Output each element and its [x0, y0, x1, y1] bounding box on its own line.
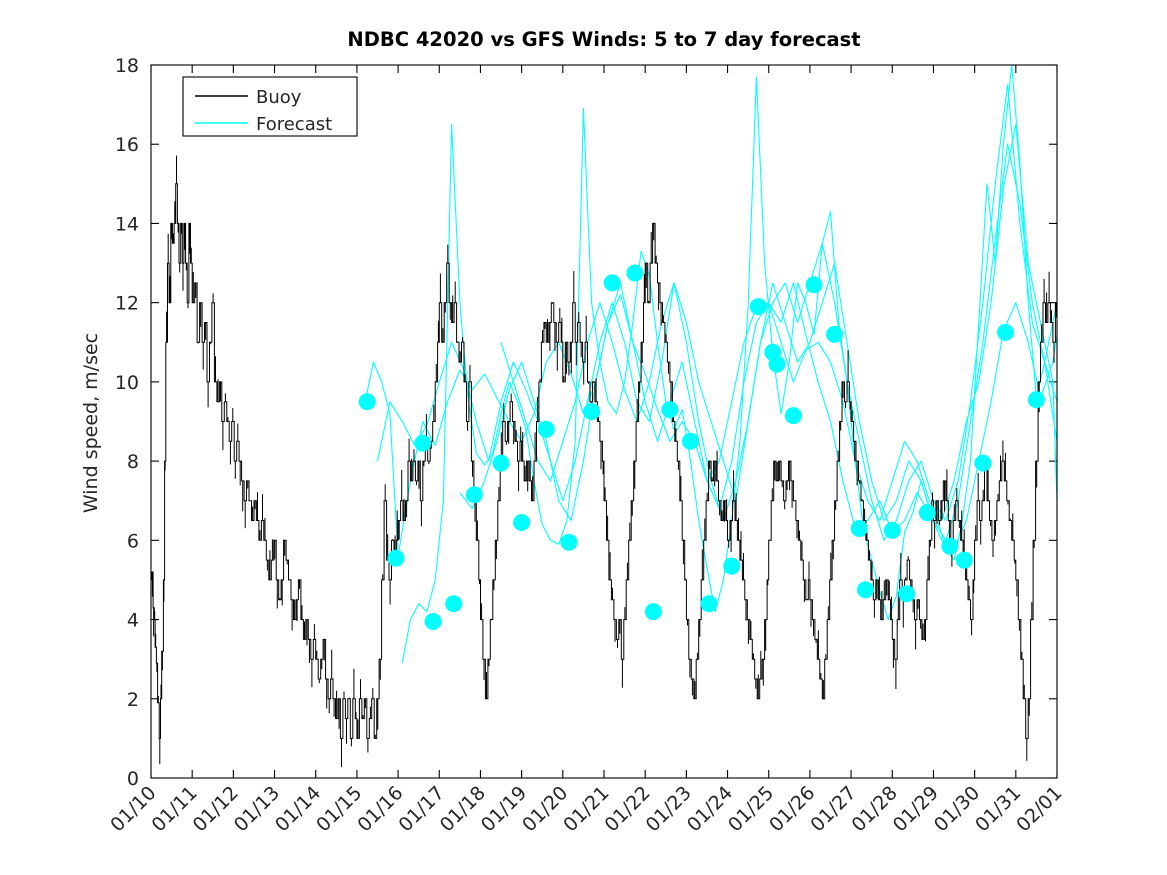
forecast-verification-marker	[561, 534, 578, 551]
y-tick-label: 18	[115, 55, 139, 77]
y-tick-label: 16	[115, 134, 139, 156]
forecast-verification-marker	[701, 595, 718, 612]
forecast-verification-marker	[723, 558, 740, 575]
forecast-verification-marker	[583, 403, 600, 420]
forecast-verification-marker	[626, 265, 643, 282]
forecast-verification-marker	[414, 435, 431, 452]
forecast-verification-marker	[493, 455, 510, 472]
chart-title: NDBC 42020 vs GFS Winds: 5 to 7 day fore…	[347, 28, 860, 51]
y-tick-label: 8	[127, 451, 139, 473]
forecast-verification-marker	[806, 276, 823, 293]
forecast-verification-marker	[956, 552, 973, 569]
forecast-verification-marker	[388, 550, 405, 567]
forecast-verification-marker	[513, 514, 530, 531]
y-tick-label: 4	[127, 610, 139, 632]
y-tick-label: 0	[127, 768, 139, 790]
forecast-verification-marker	[884, 522, 901, 539]
figure-background	[0, 0, 1167, 875]
y-tick-label: 6	[127, 530, 139, 552]
forecast-verification-marker	[445, 595, 462, 612]
forecast-verification-marker	[425, 613, 442, 630]
forecast-verification-marker	[661, 401, 678, 418]
wind-speed-chart: NDBC 42020 vs GFS Winds: 5 to 7 day fore…	[0, 0, 1167, 875]
chart-figure: NDBC 42020 vs GFS Winds: 5 to 7 day fore…	[0, 0, 1167, 875]
forecast-verification-marker	[769, 356, 786, 373]
y-tick-label: 2	[127, 689, 139, 711]
forecast-verification-marker	[997, 324, 1014, 341]
forecast-verification-marker	[682, 433, 699, 450]
forecast-verification-marker	[857, 581, 874, 598]
chart-legend[interactable]: Buoy Forecast	[183, 77, 357, 136]
forecast-verification-marker	[785, 407, 802, 424]
forecast-verification-marker	[974, 455, 991, 472]
forecast-verification-marker	[851, 520, 868, 537]
legend-label-buoy: Buoy	[256, 87, 302, 108]
forecast-verification-marker	[645, 603, 662, 620]
forecast-verification-marker	[466, 486, 483, 503]
forecast-verification-marker	[359, 393, 376, 410]
y-tick-label: 14	[115, 213, 139, 235]
legend-label-forecast: Forecast	[256, 114, 332, 135]
y-axis-label: Wind speed, m/sec	[80, 333, 102, 513]
forecast-verification-marker	[604, 274, 621, 291]
forecast-verification-marker	[826, 326, 843, 343]
forecast-verification-marker	[750, 298, 767, 315]
forecast-verification-marker	[941, 538, 958, 555]
forecast-verification-marker	[919, 504, 936, 521]
y-tick-label: 10	[115, 372, 139, 394]
forecast-verification-marker	[898, 585, 915, 602]
y-tick-label: 12	[115, 293, 139, 315]
forecast-verification-marker	[538, 421, 555, 438]
forecast-verification-marker	[1028, 391, 1045, 408]
